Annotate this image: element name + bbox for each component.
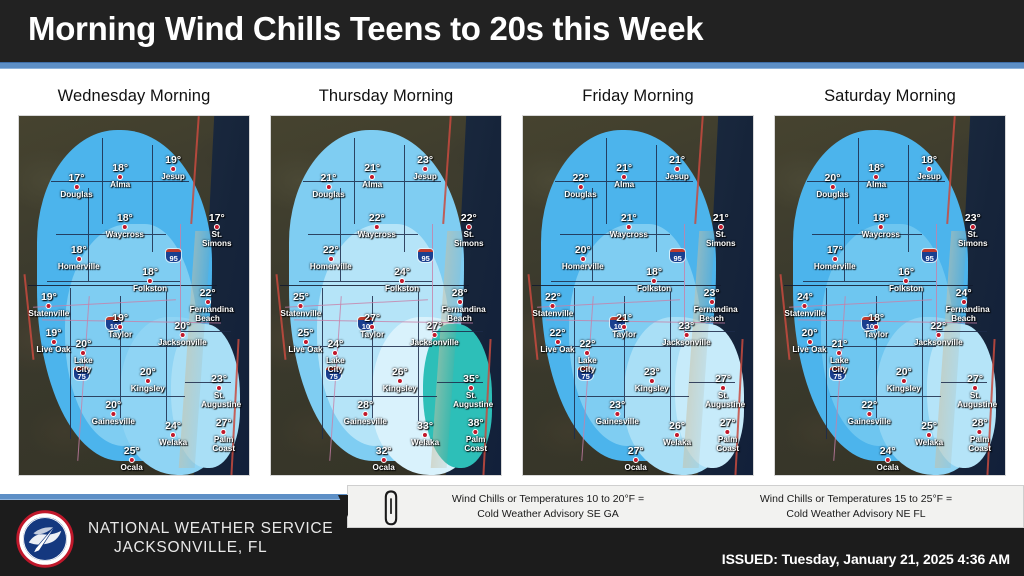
- temperature-value: 23°: [694, 288, 730, 299]
- temperature-value: 21°: [665, 155, 689, 166]
- city-name: St. Augustine: [957, 391, 993, 409]
- city-temperature-marker: 23°Fernandina Beach: [694, 288, 730, 323]
- city-temperature-marker: 22°Homerville: [310, 245, 352, 271]
- city-name: Jesup: [665, 172, 689, 181]
- city-temperature-marker: 17°Homerville: [814, 245, 856, 271]
- temperature-value: 38°: [463, 418, 488, 429]
- temperature-value: 20°: [158, 321, 207, 332]
- temperature-value: 27°: [715, 418, 740, 429]
- city-temperature-marker: 18°Jesup: [917, 155, 941, 181]
- city-name: Folkston: [133, 284, 167, 293]
- city-name: Alma: [362, 180, 382, 189]
- agency-line-2: JACKSONVILLE, FL: [114, 538, 333, 557]
- city-temperature-marker: 32°Ocala: [373, 446, 395, 472]
- legend-ne-fl: Wind Chills or Temperatures 15 to 25°F =…: [696, 492, 1016, 521]
- city-temperature-marker: 24°Ocala: [877, 446, 899, 472]
- city-temperature-marker: 24°Welaka: [159, 421, 187, 447]
- city-temperature-marker: 24°Statenville: [784, 292, 825, 318]
- city-temperature-marker: 28°Palm Coast: [967, 418, 992, 453]
- highway-shield-95: 95: [670, 249, 685, 262]
- title-divider: [0, 62, 1024, 69]
- temperature-value: 23°: [596, 400, 639, 411]
- city-temperature-marker: 27°Ocala: [625, 446, 647, 472]
- city-name: St. Simons: [705, 230, 737, 248]
- temperature-value: 18°: [133, 267, 167, 278]
- city-temperature-marker: 23°St. Simons: [957, 213, 989, 248]
- city-name: Ocala: [625, 463, 647, 472]
- temperature-value: 17°: [60, 173, 92, 184]
- city-name: Welaka: [159, 438, 187, 447]
- city-name: Gainesville: [596, 417, 639, 426]
- forecast-panel: Friday Morning95107522°Douglas21°Alma21°…: [514, 69, 762, 494]
- temperature-value: 24°: [946, 288, 982, 299]
- city-temperature-marker: 20°Homerville: [562, 245, 604, 271]
- city-name: Douglas: [564, 190, 596, 199]
- temperature-value: 28°: [967, 418, 992, 429]
- city-temperature-marker: 21°Douglas: [312, 173, 344, 199]
- city-name: St. Augustine: [705, 391, 741, 409]
- temperature-value: 28°: [442, 288, 478, 299]
- city-name: Homerville: [814, 262, 856, 271]
- city-name: Douglas: [312, 190, 344, 199]
- temperature-value: 17°: [201, 213, 233, 224]
- temperature-value: 20°: [887, 367, 921, 378]
- highway-shield-95: 95: [922, 249, 937, 262]
- city-temperature-marker: 23°Jesup: [413, 155, 437, 181]
- temperature-value: 20°: [92, 400, 135, 411]
- city-temperature-marker: 19°Jesup: [161, 155, 185, 181]
- temperature-value: 24°: [317, 339, 353, 350]
- temperature-value: 23°: [635, 367, 669, 378]
- city-temperature-marker: 24°Folkston: [385, 267, 419, 293]
- temperature-value: 27°: [410, 321, 459, 332]
- city-temperature-marker: 18°Taylor: [864, 313, 888, 339]
- city-temperature-marker: 22°Waycross: [358, 213, 396, 239]
- city-name: Welaka: [411, 438, 439, 447]
- city-temperature-marker: 38°Palm Coast: [463, 418, 488, 453]
- city-temperature-marker: 22°Jacksonville: [914, 321, 963, 347]
- footer-bar: NATIONAL WEATHER SERVICE JACKSONVILLE, F…: [0, 494, 1024, 576]
- city-name: Statenville: [28, 309, 69, 318]
- temperature-value: 27°: [705, 374, 741, 385]
- city-temperature-marker: 27°Palm Coast: [715, 418, 740, 453]
- city-name: Jacksonville: [914, 338, 963, 347]
- city-name: Folkston: [889, 284, 923, 293]
- temperature-value: 18°: [637, 267, 671, 278]
- city-temperature-marker: 27°Jacksonville: [410, 321, 459, 347]
- city-name: Jacksonville: [662, 338, 711, 347]
- temperature-value: 26°: [383, 367, 417, 378]
- temperature-value: 20°: [816, 173, 848, 184]
- panel-title: Saturday Morning: [766, 87, 1014, 106]
- temperature-value: 18°: [866, 163, 886, 174]
- city-temperature-marker: 28°Fernandina Beach: [442, 288, 478, 323]
- city-temperature-marker: 19°Statenville: [28, 292, 69, 318]
- city-name: Waycross: [610, 230, 648, 239]
- forecast-panel: Wednesday Morning95107517°Douglas18°Alma…: [10, 69, 258, 494]
- city-temperature-marker: 27°St. Augustine: [957, 374, 993, 409]
- city-name: Taylor: [864, 330, 888, 339]
- city-name: Alma: [110, 180, 130, 189]
- temperature-value: 18°: [106, 213, 144, 224]
- city-temperature-marker: 22°Fernandina Beach: [190, 288, 226, 323]
- city-temperature-marker: 33°Welaka: [411, 421, 439, 447]
- city-name: Statenville: [784, 309, 825, 318]
- city-temperature-marker: 21°Alma: [614, 163, 634, 189]
- temperature-value: 22°: [540, 328, 574, 339]
- city-name: Kingsley: [383, 384, 417, 393]
- temperature-value: 28°: [344, 400, 387, 411]
- temperature-value: 23°: [413, 155, 437, 166]
- city-temperature-marker: 18°Waycross: [106, 213, 144, 239]
- city-name: Jacksonville: [158, 338, 207, 347]
- city-temperature-marker: 28°Gainesville: [344, 400, 387, 426]
- temperature-value: 22°: [453, 213, 485, 224]
- temperature-value: 21°: [614, 163, 634, 174]
- temperature-value: 27°: [957, 374, 993, 385]
- city-temperature-marker: 20°Kingsley: [131, 367, 165, 393]
- city-name: Kingsley: [887, 384, 921, 393]
- temperature-value: 21°: [612, 313, 636, 324]
- city-temperature-marker: 18°Homerville: [58, 245, 100, 271]
- city-name: Gainesville: [848, 417, 891, 426]
- temperature-value: 24°: [877, 446, 899, 457]
- panel-title: Thursday Morning: [262, 87, 510, 106]
- city-name: St. Simons: [201, 230, 233, 248]
- temperature-value: 18°: [110, 163, 130, 174]
- legend-ne-fl-line1: Wind Chills or Temperatures 15 to 25°F =: [696, 492, 1016, 507]
- temperature-value: 25°: [915, 421, 943, 432]
- city-temperature-marker: 19°Taylor: [108, 313, 132, 339]
- city-temperature-marker: 20°Kingsley: [887, 367, 921, 393]
- temperature-value: 23°: [957, 213, 989, 224]
- city-temperature-marker: 20°Lake City: [65, 339, 101, 374]
- issued-timestamp: ISSUED: Tuesday, January 21, 2025 4:36 A…: [722, 551, 1010, 567]
- city-name: Gainesville: [92, 417, 135, 426]
- city-name: Palm Coast: [967, 435, 992, 453]
- panel-title: Wednesday Morning: [10, 87, 258, 106]
- city-name: Welaka: [663, 438, 691, 447]
- city-name: Taylor: [612, 330, 636, 339]
- temperature-value: 27°: [625, 446, 647, 457]
- city-name: Homerville: [310, 262, 352, 271]
- temperature-value: 20°: [131, 367, 165, 378]
- city-temperature-marker: 25°Statenville: [280, 292, 321, 318]
- forecast-panel: Saturday Morning95107520°Douglas18°Alma1…: [766, 69, 1014, 494]
- city-temperature-marker: 27°St. Augustine: [705, 374, 741, 409]
- title-bar: Morning Wind Chills Teens to 20s this We…: [0, 0, 1024, 62]
- city-name: Ocala: [373, 463, 395, 472]
- temperature-value: 20°: [792, 328, 826, 339]
- temperature-value: 18°: [58, 245, 100, 256]
- city-temperature-marker: 17°St. Simons: [201, 213, 233, 248]
- city-name: Kingsley: [635, 384, 669, 393]
- temperature-value: 21°: [362, 163, 382, 174]
- temperature-value: 20°: [65, 339, 101, 350]
- city-temperature-marker: 20°Jacksonville: [158, 321, 207, 347]
- city-name: Taylor: [108, 330, 132, 339]
- city-name: Waycross: [358, 230, 396, 239]
- city-temperature-marker: 21°Jesup: [665, 155, 689, 181]
- city-name: Jesup: [413, 172, 437, 181]
- city-temperature-marker: 17°Douglas: [60, 173, 92, 199]
- temperature-value: 25°: [121, 446, 143, 457]
- forecast-map: 95107517°Douglas18°Alma19°Jesup18°Waycro…: [18, 115, 250, 476]
- city-name: Folkston: [385, 284, 419, 293]
- city-temperature-marker: 26°Kingsley: [383, 367, 417, 393]
- temperature-value: 26°: [663, 421, 691, 432]
- temperature-value: 35°: [453, 374, 489, 385]
- temperature-value: 22°: [564, 173, 596, 184]
- city-name: Waycross: [862, 230, 900, 239]
- temperature-value: 22°: [358, 213, 396, 224]
- city-temperature-marker: 25°Welaka: [915, 421, 943, 447]
- temperature-value: 22°: [532, 292, 573, 303]
- city-temperature-marker: 22°St. Simons: [453, 213, 485, 248]
- city-name: Folkston: [637, 284, 671, 293]
- legend-ne-fl-line2: Cold Weather Advisory NE FL: [696, 507, 1016, 522]
- city-name: Lake City: [569, 356, 605, 374]
- temperature-value: 24°: [159, 421, 187, 432]
- city-name: Statenville: [280, 309, 321, 318]
- city-name: St. Augustine: [453, 391, 489, 409]
- temperature-value: 18°: [917, 155, 941, 166]
- city-name: Waycross: [106, 230, 144, 239]
- agency-line-1: NATIONAL WEATHER SERVICE: [88, 519, 333, 538]
- temperature-value: 24°: [385, 267, 419, 278]
- city-name: St. Simons: [957, 230, 989, 248]
- city-name: Homerville: [562, 262, 604, 271]
- legend-se-ga-line2: Cold Weather Advisory SE GA: [388, 507, 708, 522]
- city-temperature-marker: 26°Welaka: [663, 421, 691, 447]
- temperature-value: 33°: [411, 421, 439, 432]
- city-temperature-marker: 18°Waycross: [862, 213, 900, 239]
- advisory-legend: Wind Chills or Temperatures 10 to 20°F =…: [347, 485, 1024, 528]
- city-temperature-marker: 21°Lake City: [821, 339, 857, 374]
- temperature-value: 32°: [373, 446, 395, 457]
- city-name: Ocala: [121, 463, 143, 472]
- city-temperature-marker: 18°Alma: [866, 163, 886, 189]
- city-name: Welaka: [915, 438, 943, 447]
- temperature-value: 24°: [784, 292, 825, 303]
- city-temperature-marker: 21°Alma: [362, 163, 382, 189]
- city-temperature-marker: 21°Waycross: [610, 213, 648, 239]
- temperature-value: 18°: [864, 313, 888, 324]
- panel-title: Friday Morning: [514, 87, 762, 106]
- city-name: Palm Coast: [211, 435, 236, 453]
- temperature-value: 27°: [360, 313, 384, 324]
- forecast-map: 95107521°Douglas21°Alma23°Jesup22°Waycro…: [270, 115, 502, 476]
- city-name: Taylor: [360, 330, 384, 339]
- highway-shield-95: 95: [166, 249, 181, 262]
- city-temperature-marker: 35°St. Augustine: [453, 374, 489, 409]
- city-temperature-marker: 24°Fernandina Beach: [946, 288, 982, 323]
- city-temperature-marker: 27°Taylor: [360, 313, 384, 339]
- forecast-map: 95107520°Douglas18°Alma18°Jesup18°Waycro…: [774, 115, 1006, 476]
- temperature-value: 25°: [280, 292, 321, 303]
- city-temperature-marker: 22°Douglas: [564, 173, 596, 199]
- temperature-value: 21°: [610, 213, 648, 224]
- temperature-value: 19°: [161, 155, 185, 166]
- temperature-value: 22°: [848, 400, 891, 411]
- city-name: Gainesville: [344, 417, 387, 426]
- city-temperature-marker: 23°Kingsley: [635, 367, 669, 393]
- city-name: Alma: [614, 180, 634, 189]
- temperature-value: 21°: [312, 173, 344, 184]
- city-name: Douglas: [816, 190, 848, 199]
- city-name: Palm Coast: [715, 435, 740, 453]
- city-name: Jesup: [161, 172, 185, 181]
- city-temperature-marker: 23°Jacksonville: [662, 321, 711, 347]
- page-title: Morning Wind Chills Teens to 20s this We…: [28, 10, 703, 48]
- city-name: Lake City: [65, 356, 101, 374]
- temperature-value: 22°: [310, 245, 352, 256]
- forecast-panel: Thursday Morning95107521°Douglas21°Alma2…: [262, 69, 510, 494]
- city-temperature-marker: 18°Folkston: [133, 267, 167, 293]
- nws-logo-icon: [16, 510, 74, 568]
- city-temperature-marker: 21°St. Simons: [705, 213, 737, 248]
- agency-name: NATIONAL WEATHER SERVICE JACKSONVILLE, F…: [88, 519, 333, 557]
- city-temperature-marker: 21°Taylor: [612, 313, 636, 339]
- temperature-value: 25°: [288, 328, 322, 339]
- temperature-value: 21°: [821, 339, 857, 350]
- forecast-panels-container: Wednesday Morning95107517°Douglas18°Alma…: [0, 69, 1024, 494]
- city-temperature-marker: 18°Folkston: [637, 267, 671, 293]
- city-temperature-marker: 27°Palm Coast: [211, 418, 236, 453]
- temperature-value: 20°: [562, 245, 604, 256]
- city-temperature-marker: 22°Lake City: [569, 339, 605, 374]
- temperature-value: 19°: [28, 292, 69, 303]
- city-temperature-marker: 20°Gainesville: [92, 400, 135, 426]
- temperature-value: 22°: [190, 288, 226, 299]
- city-temperature-marker: 25°Ocala: [121, 446, 143, 472]
- temperature-value: 23°: [201, 374, 237, 385]
- legend-se-ga: Wind Chills or Temperatures 10 to 20°F =…: [388, 492, 708, 521]
- city-temperature-marker: 18°Alma: [110, 163, 130, 189]
- city-name: Lake City: [821, 356, 857, 374]
- city-name: Statenville: [532, 309, 573, 318]
- city-name: St. Augustine: [201, 391, 237, 409]
- city-temperature-marker: 22°Statenville: [532, 292, 573, 318]
- city-name: Douglas: [60, 190, 92, 199]
- highway-shield-95: 95: [418, 249, 433, 262]
- city-name: Ocala: [877, 463, 899, 472]
- temperature-value: 16°: [889, 267, 923, 278]
- forecast-map: 95107522°Douglas21°Alma21°Jesup21°Waycro…: [522, 115, 754, 476]
- city-name: Jacksonville: [410, 338, 459, 347]
- temperature-value: 22°: [569, 339, 605, 350]
- city-name: Palm Coast: [463, 435, 488, 453]
- city-temperature-marker: 24°Lake City: [317, 339, 353, 374]
- city-temperature-marker: 23°Gainesville: [596, 400, 639, 426]
- temperature-value: 23°: [662, 321, 711, 332]
- temperature-value: 18°: [862, 213, 900, 224]
- city-name: St. Simons: [453, 230, 485, 248]
- city-name: Lake City: [317, 356, 353, 374]
- city-temperature-marker: 16°Folkston: [889, 267, 923, 293]
- city-name: Jesup: [917, 172, 941, 181]
- city-name: Alma: [866, 180, 886, 189]
- temperature-value: 22°: [914, 321, 963, 332]
- temperature-value: 19°: [108, 313, 132, 324]
- temperature-value: 19°: [36, 328, 70, 339]
- city-temperature-marker: 22°Gainesville: [848, 400, 891, 426]
- temperature-value: 17°: [814, 245, 856, 256]
- city-name: Kingsley: [131, 384, 165, 393]
- city-temperature-marker: 20°Douglas: [816, 173, 848, 199]
- temperature-value: 27°: [211, 418, 236, 429]
- city-temperature-marker: 23°St. Augustine: [201, 374, 237, 409]
- temperature-value: 21°: [705, 213, 737, 224]
- legend-se-ga-line1: Wind Chills or Temperatures 10 to 20°F =: [388, 492, 708, 507]
- city-name: Homerville: [58, 262, 100, 271]
